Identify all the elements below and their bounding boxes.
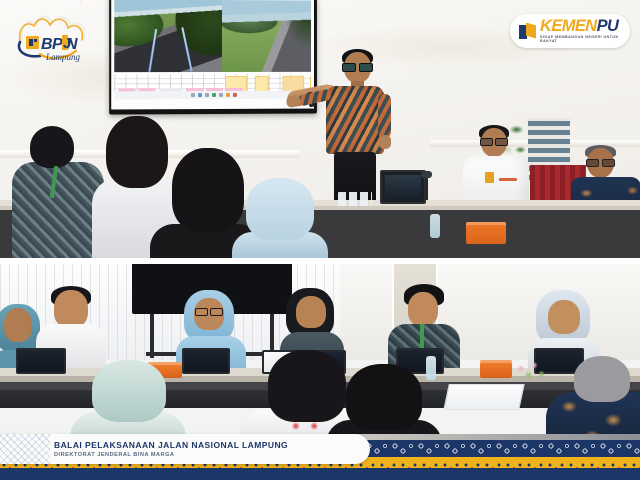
eyeglasses-icon <box>480 138 508 144</box>
shirt-emblem <box>282 420 328 432</box>
svg-text:Lampung: Lampung <box>45 52 81 62</box>
audience-member <box>18 126 96 258</box>
laptop <box>16 348 66 374</box>
kementerian-pu-logo: KEMEN PU SIGAP MEMBANGUN NEGERI UNTUK RA… <box>510 14 630 48</box>
banner-title: BALAI PELAKSANAAN JALAN NASIONAL LAMPUNG <box>54 440 370 450</box>
snack-box <box>466 222 506 244</box>
taskbar-icon <box>218 93 222 97</box>
audience-photo <box>0 264 640 444</box>
drinking-glasses <box>338 192 372 206</box>
participant-head <box>574 356 630 402</box>
audience-head <box>246 178 314 240</box>
shirt-emblem <box>485 172 494 183</box>
water-bottle <box>430 214 440 238</box>
foreground-participant <box>326 364 442 444</box>
batik-shirt <box>326 86 384 154</box>
taskbar-icon <box>205 93 209 97</box>
participant-head <box>54 290 88 328</box>
banner-subtitle: DIREKTORAT JENDERAL BINA MARGA <box>54 452 370 458</box>
kpu-word-pu: PU <box>597 18 619 35</box>
taskbar-icon <box>197 93 201 97</box>
presenter-right-arm <box>378 94 391 138</box>
foreground-participant <box>556 356 640 444</box>
lanyard <box>420 324 424 350</box>
audience-head <box>30 126 74 168</box>
participant-head <box>548 300 580 334</box>
participant-head <box>296 296 326 328</box>
flower-arrangement <box>512 358 548 384</box>
taskbar-icon <box>225 93 229 97</box>
participant-head <box>4 308 32 342</box>
panel-divider <box>0 258 640 264</box>
photo-collage: BP N J Lampung KEMEN PU SIGAP MEMBANGUN … <box>0 0 640 480</box>
eyeglasses-icon <box>195 308 223 314</box>
eyeglasses-icon <box>342 63 373 70</box>
svg-text:J: J <box>63 35 72 52</box>
mesh-ornament <box>0 434 50 464</box>
pu-emblem-icon <box>519 23 536 40</box>
bottom-banner: BALAI PELAKSANAAN JALAN NASIONAL LAMPUNG… <box>0 440 640 480</box>
presenter <box>322 52 386 202</box>
banner-title-plate: BALAI PELAKSANAAN JALAN NASIONAL LAMPUNG… <box>0 434 370 464</box>
wall-display <box>109 0 317 115</box>
snack-box <box>480 360 512 378</box>
audience-member <box>232 178 328 258</box>
taskbar-icon <box>190 93 194 97</box>
participant-head <box>92 360 166 422</box>
laptop <box>380 170 426 204</box>
shirt-text <box>499 178 517 181</box>
kpu-wordmark: KEMEN PU SIGAP MEMBANGUN NEGERI UNTUK RA… <box>540 18 621 43</box>
kpu-word-kemen: KEMEN <box>540 18 597 35</box>
microphone <box>425 176 428 200</box>
taskbar-icon <box>212 93 216 97</box>
svg-text:BP: BP <box>41 36 63 53</box>
participant-head <box>346 364 422 430</box>
taskbar <box>114 91 311 100</box>
display-screen <box>111 0 314 109</box>
eyeglasses-icon <box>586 159 615 165</box>
bpjn-lampung-logo: BP N J Lampung <box>14 10 108 62</box>
taskbar-icon <box>232 93 236 97</box>
road-photo-right <box>222 0 311 72</box>
tree-ornament-lower <box>0 473 640 480</box>
paper-document <box>443 384 525 410</box>
kpu-tagline: SIGAP MEMBANGUN NEGERI UNTUK RAKYAT <box>540 36 621 43</box>
spreadsheet-area <box>114 74 311 100</box>
laptop <box>182 348 230 374</box>
road-photo-left <box>114 0 223 72</box>
participant-head <box>408 292 438 326</box>
foreground-participant <box>70 360 186 444</box>
